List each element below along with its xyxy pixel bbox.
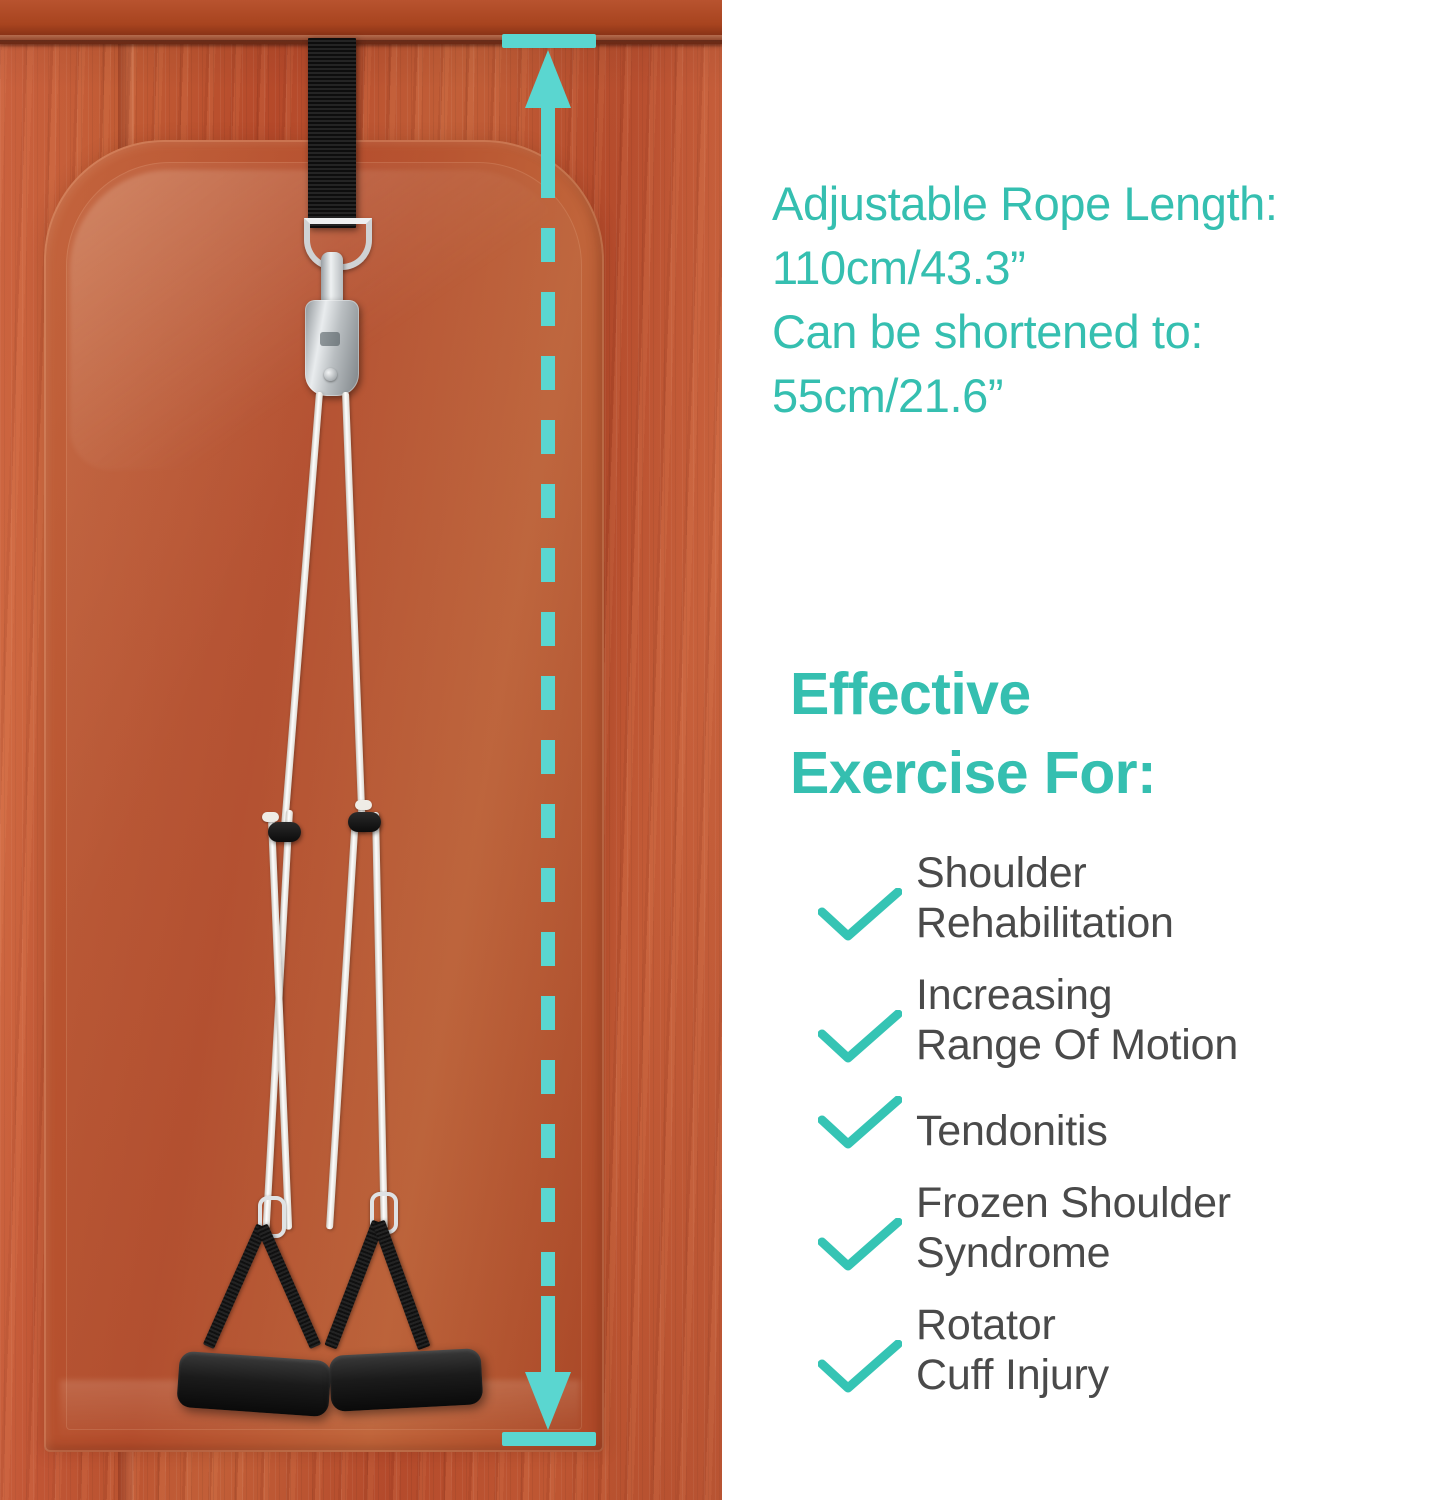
- door-frame-gap: [0, 40, 722, 47]
- benefit-label: IncreasingRange Of Motion: [916, 970, 1238, 1070]
- spec-line-2: 110cm/43.3”: [772, 236, 1451, 300]
- spec-block: Adjustable Rope Length: 110cm/43.3” Can …: [772, 172, 1451, 428]
- section-heading: Effective Exercise For:: [790, 655, 1430, 813]
- check-icon: [818, 1336, 902, 1400]
- rope-knot: [262, 812, 279, 822]
- dimension-cap-bottom: [502, 1432, 596, 1446]
- benefit-label: ShoulderRehabilitation: [916, 848, 1174, 948]
- rope-length-dimension-arrow: [529, 34, 569, 1446]
- benefits-list: ShoulderRehabilitation IncreasingRange O…: [818, 848, 1451, 1422]
- list-item: ShoulderRehabilitation: [818, 848, 1451, 948]
- product-photo: [0, 0, 722, 1500]
- check-icon: [818, 884, 902, 948]
- list-item: IncreasingRange Of Motion: [818, 970, 1451, 1070]
- check-icon: [818, 1092, 902, 1156]
- pulley-bolt: [324, 368, 337, 381]
- door-frame-header: [0, 0, 722, 44]
- foam-handle: [176, 1351, 332, 1417]
- dimension-arrowhead-down: [525, 1372, 571, 1430]
- dimension-dashed-line: [541, 164, 555, 1364]
- wood-sheen-right: [600, 0, 722, 1500]
- list-item: Frozen ShoulderSyndrome: [818, 1178, 1451, 1278]
- dimension-arrowhead-up: [525, 50, 571, 108]
- list-item: Tendonitis: [818, 1092, 1451, 1156]
- check-icon: [818, 1214, 902, 1278]
- spec-line-3: Can be shortened to:: [772, 300, 1451, 364]
- list-item: RotatorCuff Injury: [818, 1300, 1451, 1400]
- metal-pulley: [305, 300, 359, 396]
- heading-line-1: Effective: [790, 655, 1430, 734]
- benefit-label: Frozen ShoulderSyndrome: [916, 1178, 1231, 1278]
- benefit-label: Tendonitis: [916, 1106, 1108, 1156]
- check-icon: [818, 1006, 902, 1070]
- cord-lock: [348, 812, 381, 832]
- spec-line-4: 55cm/21.6”: [772, 364, 1451, 428]
- cord-lock: [268, 822, 301, 842]
- door-anchor-strap: [308, 38, 356, 228]
- rope-knot: [355, 800, 372, 810]
- foam-handle: [329, 1348, 484, 1412]
- pulley-label: [320, 332, 340, 346]
- dimension-cap-top: [502, 34, 596, 48]
- spec-line-1: Adjustable Rope Length:: [772, 172, 1451, 236]
- heading-line-2: Exercise For:: [790, 734, 1430, 813]
- benefit-label: RotatorCuff Injury: [916, 1300, 1109, 1400]
- dimension-stem-bottom: [541, 1296, 555, 1376]
- info-panel: Adjustable Rope Length: 110cm/43.3” Can …: [722, 0, 1451, 1500]
